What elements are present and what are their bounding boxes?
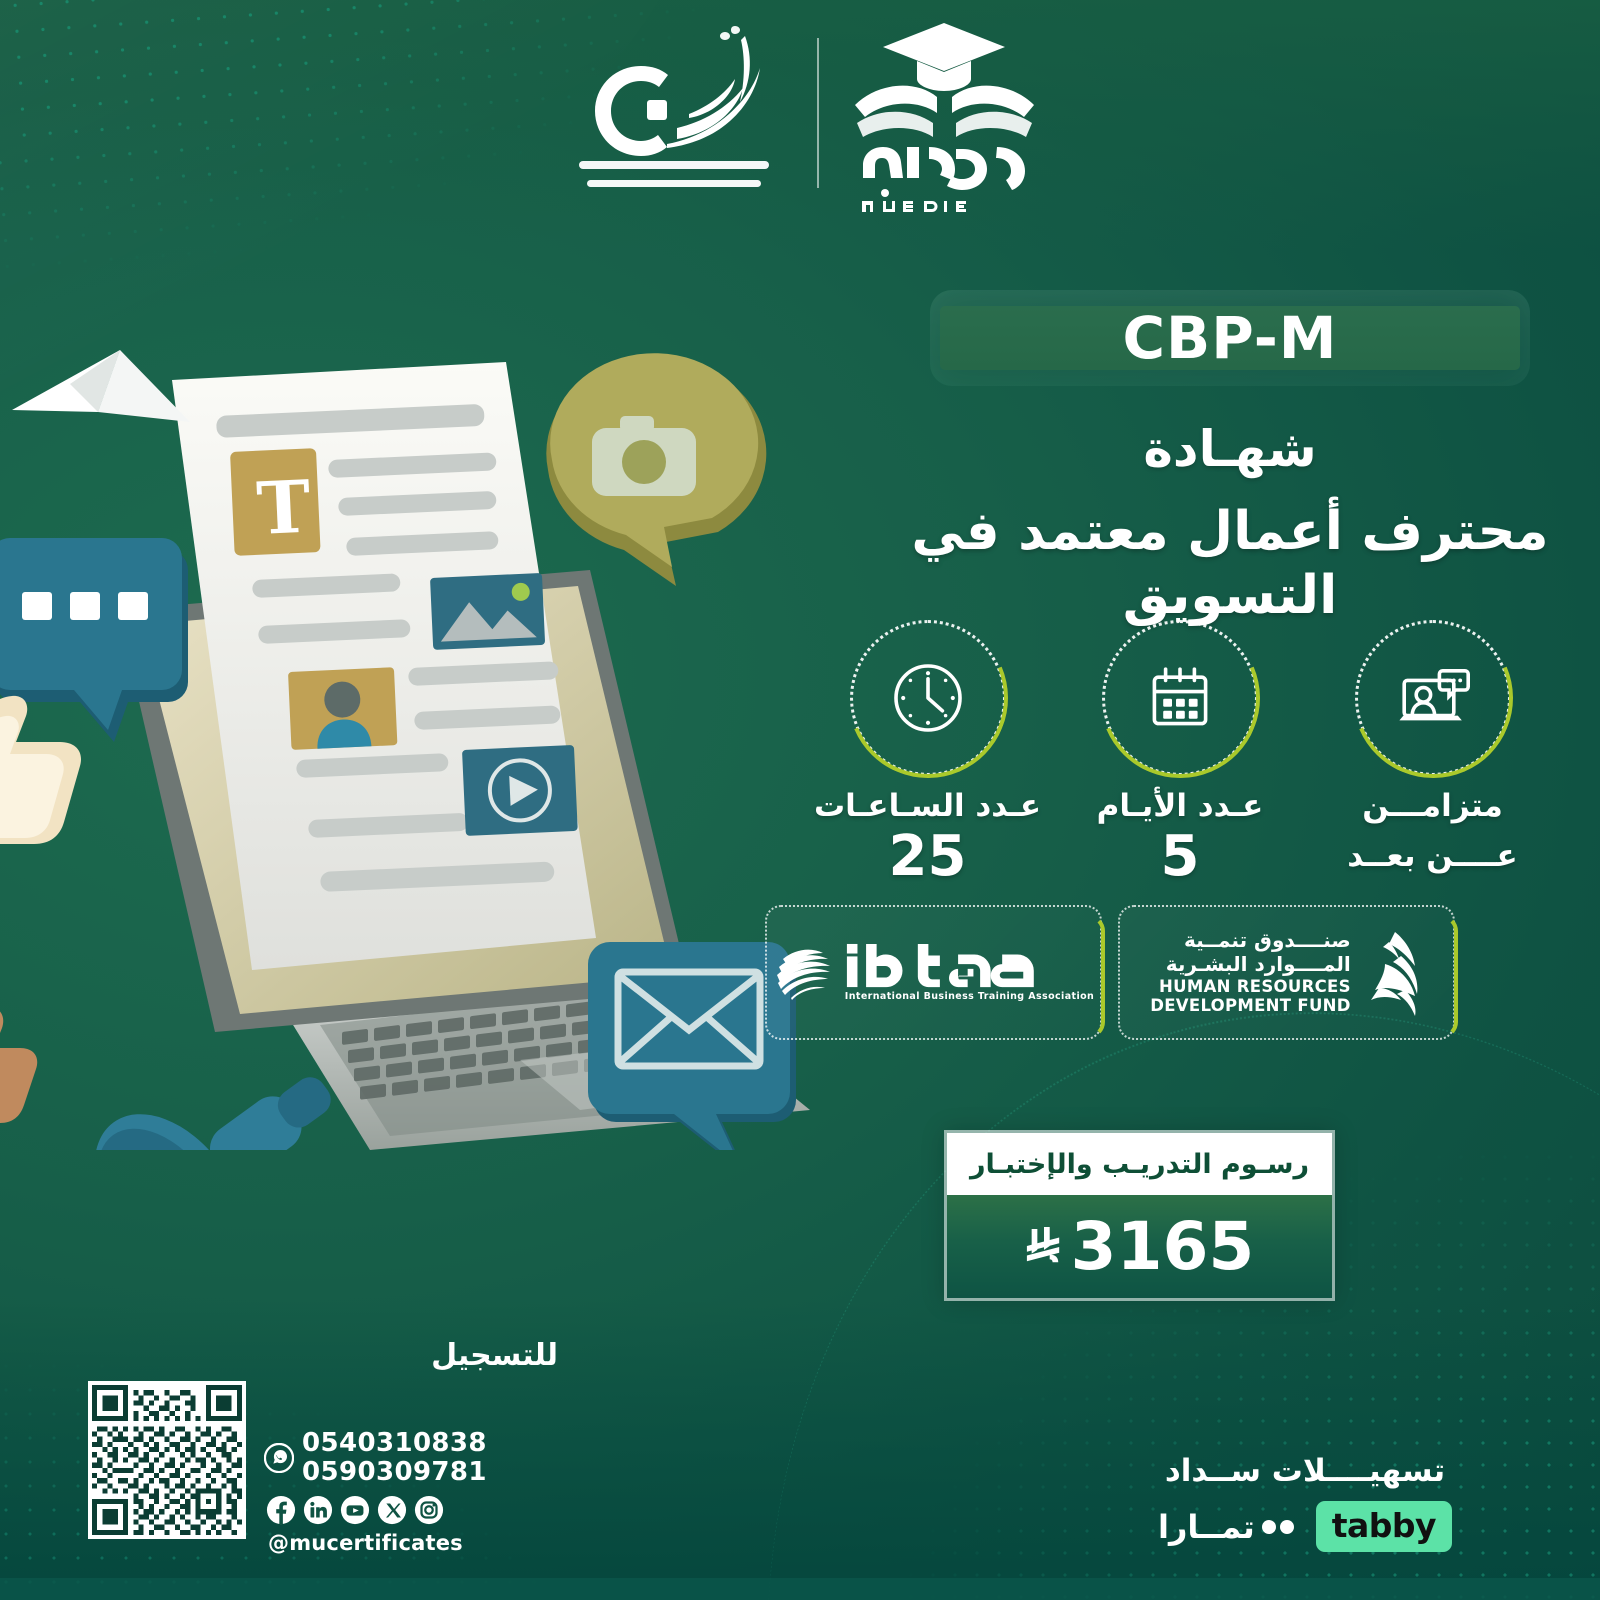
social-handle: @mucertificates [268,1531,487,1555]
fee-amount: 3165 [1071,1214,1255,1280]
tamara-label: تمــارا [1158,1508,1255,1546]
kau-creativity-center-logo [549,18,799,208]
course-code-badge-wrap: CBP-M [930,290,1530,386]
course-code-text: CBP-M [1122,304,1337,372]
header-logos [0,8,1600,218]
tabby-label: tabby [1332,1506,1436,1545]
phone-1: 0540310838 [302,1429,487,1458]
stat-days-value: 5 [1161,828,1200,887]
stat-days: عـدد الأيـام 5 [1073,620,1288,887]
illustration-svg: T [0,320,810,1150]
partner-logos: International Business Training Associat… [765,905,1455,1040]
course-title: محترف أعمال معتمد في التسويق [860,500,1600,627]
dotted-border [1118,905,1455,1040]
lime-arc [823,594,1031,802]
stat-hours-value: 25 [889,828,967,887]
course-header-block: CBP-M شهـادة محترف أعمال معتمد في التسوي… [860,290,1600,627]
tamara-logo: تمــارا [1158,1508,1294,1546]
course-stats: عـدد السـاعـات 25 [820,620,1540,887]
stat-days-ring [1102,620,1258,776]
fee-box: رسـوم التدريـب والإختبـار 3165 [944,1130,1335,1301]
mubdie-logo-icon [837,13,1052,213]
stat-hours: عـدد السـاعـات 25 [820,620,1035,887]
lime-accent [1071,915,1105,1038]
x-icon[interactable] [377,1495,407,1525]
lime-arc [1328,594,1536,802]
partner-hrdf: صنــــدوق تنمــية المــــوارد البشـرية H… [1118,905,1455,1040]
fee-label-bar: رسـوم التدريـب والإختبـار [947,1133,1332,1195]
stat-delivery: متزامـــن عــــن بعــد [1325,620,1540,887]
lime-arc [1076,594,1284,802]
fee-amount-bar: 3165 [947,1195,1332,1298]
registration-title: للتسجيل [368,1338,558,1373]
poster-root: T [0,0,1600,1600]
stat-hours-ring [850,620,1006,776]
facebook-icon[interactable] [266,1495,296,1525]
stat-delivery-label: متزامـــن [1362,788,1503,826]
payment-options: تسهيــــلات ســداد تمــارا tabby [1070,1453,1540,1552]
registration-block: للتسجيل [88,1338,558,1555]
linkedin-icon[interactable] [303,1495,333,1525]
tabby-logo: tabby [1316,1501,1452,1552]
youtube-icon[interactable] [340,1495,370,1525]
svg-text:T: T [255,464,312,551]
stat-delivery-value: عــــن بعــد [1347,838,1518,876]
payment-title: تسهيــــلات ســداد [1070,1453,1540,1489]
kau-logo-icon [549,18,799,208]
background-bottom-edge [0,1578,1600,1600]
stat-hours-label: عـدد السـاعـات [814,788,1041,826]
tamara-dots-icon [1262,1520,1294,1534]
certificate-word: شهـادة [860,420,1600,478]
phone-2: 0590309781 [302,1458,487,1487]
marketing-illustration: T [0,320,810,1150]
social-links [266,1495,487,1525]
stat-days-label: عـدد الأيـام [1097,788,1264,826]
fee-label: رسـوم التدريـب والإختبـار [970,1149,1309,1180]
mubdie-logo [837,13,1052,213]
phone-numbers: 0540310838 0590309781 [302,1429,487,1487]
partner-ibta: International Business Training Associat… [765,905,1102,1040]
qr-code-svg [92,1385,242,1535]
contact-block: 0540310838 0590309781 [264,1381,487,1555]
instagram-icon[interactable] [414,1495,444,1525]
lime-accent [1424,915,1458,1038]
dotted-border [765,905,1102,1040]
stat-delivery-ring [1355,620,1511,776]
logo-divider [817,38,819,188]
riyal-icon [1025,1225,1063,1269]
course-code-badge: CBP-M [940,306,1520,370]
qr-code[interactable] [88,1381,246,1539]
whatsapp-icon[interactable] [264,1443,294,1473]
